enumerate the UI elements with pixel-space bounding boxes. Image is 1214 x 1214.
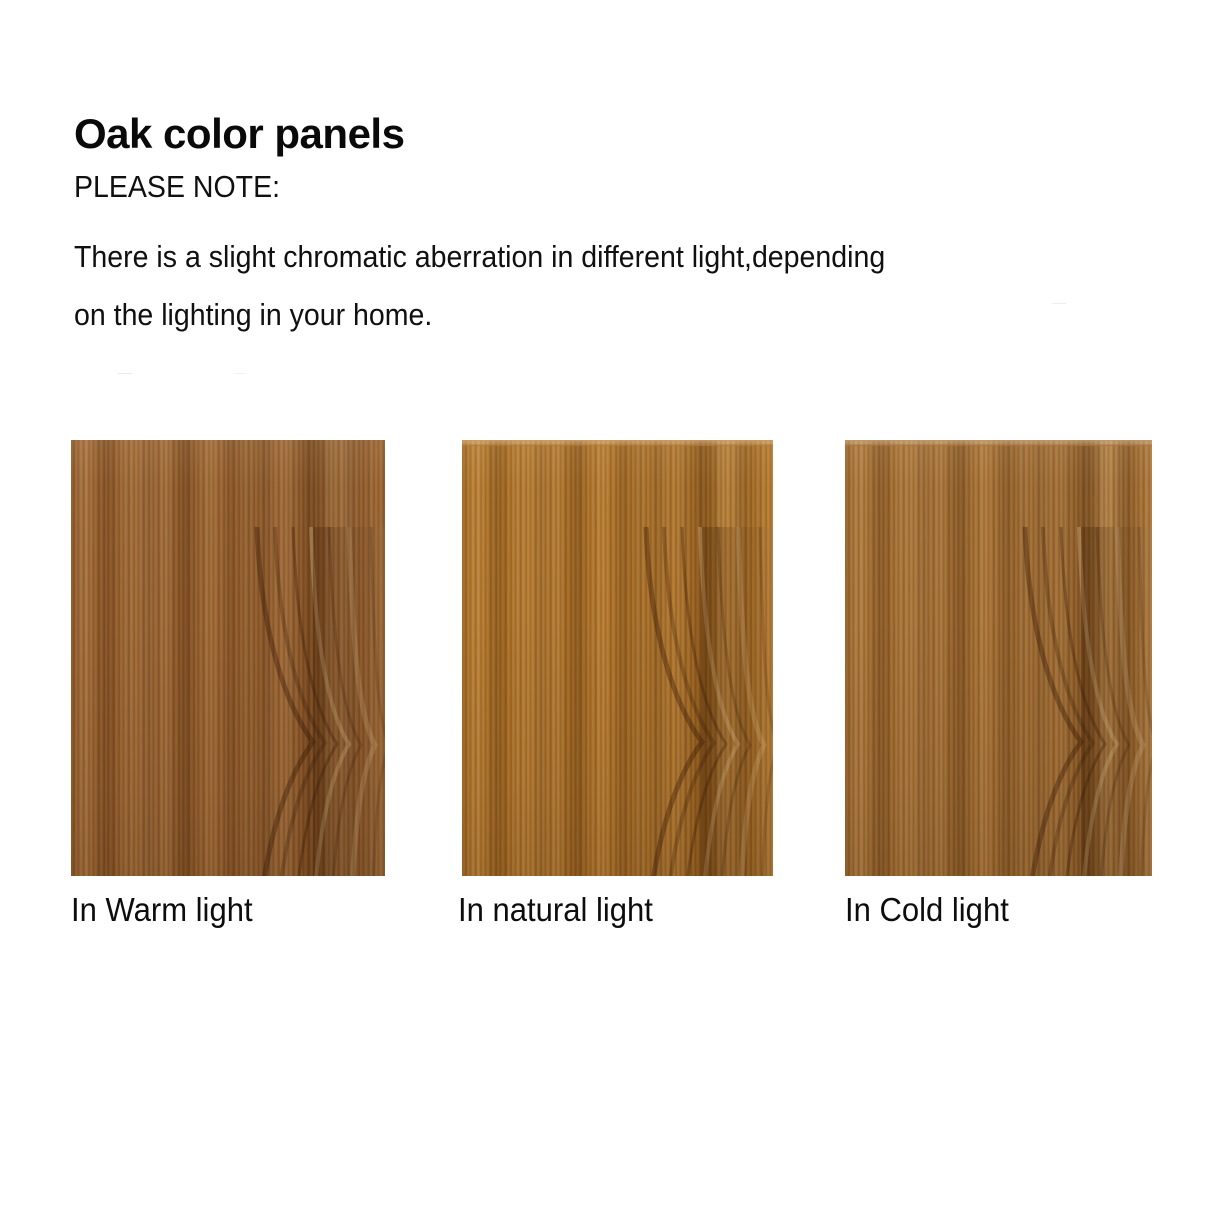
panel-top-bevel (845, 440, 1152, 446)
wood-grain-shade-layer (71, 440, 385, 876)
panel-swatch-cold[interactable] (845, 440, 1152, 876)
panel-top-bevel (462, 440, 773, 446)
panel-swatch-row: In Warm light In natural light In Co (0, 0, 1214, 1214)
page-canvas: Oak color panels PLEASE NOTE: There is a… (0, 0, 1214, 1214)
wood-texture-natural (462, 440, 773, 876)
panel-swatch-natural[interactable] (462, 440, 773, 876)
panel-caption-natural: In natural light (458, 891, 653, 929)
panel-caption-warm: In Warm light (71, 891, 253, 929)
panel-caption-cold: In Cold light (845, 891, 1009, 929)
wood-texture-warm (71, 440, 385, 876)
wood-grain-shade-layer (462, 440, 773, 876)
panel-swatch-warm[interactable] (71, 440, 385, 876)
wood-texture-cold (845, 440, 1152, 876)
wood-grain-shade-layer (845, 440, 1152, 876)
